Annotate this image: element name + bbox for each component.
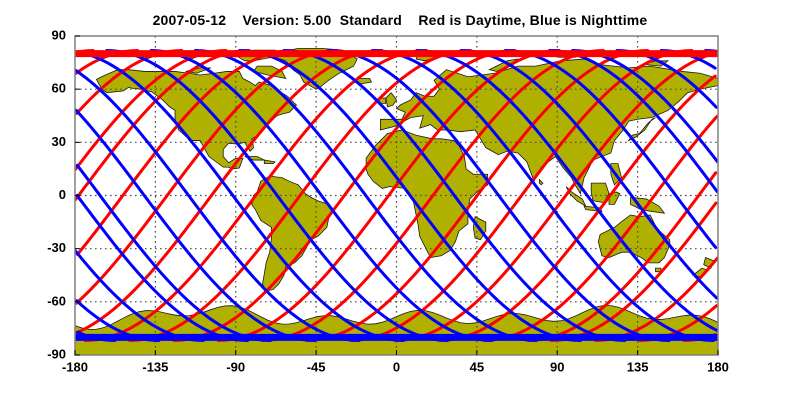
x-tick-label: -180 xyxy=(62,360,88,375)
x-tick-label: -135 xyxy=(142,360,168,375)
y-tick-label: 60 xyxy=(52,81,66,96)
ground-track-plot: 9060300-30-60-90 -180-135-90-45045901351… xyxy=(0,0,800,400)
y-tick-label: 0 xyxy=(59,187,66,202)
x-tick-label: 0 xyxy=(393,360,400,375)
y-tick-label: -60 xyxy=(47,293,66,308)
y-tick-label: 30 xyxy=(52,134,66,149)
x-tick-label: -90 xyxy=(226,360,245,375)
orbit-map-figure: 2007-05-12 Version: 5.00 Standard Red is… xyxy=(0,0,800,400)
y-tick-label: -30 xyxy=(47,240,66,255)
x-tick-label: 180 xyxy=(707,360,729,375)
x-tick-label: -45 xyxy=(307,360,326,375)
y-tick-label: 90 xyxy=(52,27,66,42)
x-tick-label: 135 xyxy=(627,360,649,375)
x-tick-label: 45 xyxy=(470,360,484,375)
x-tick-label: 90 xyxy=(550,360,564,375)
